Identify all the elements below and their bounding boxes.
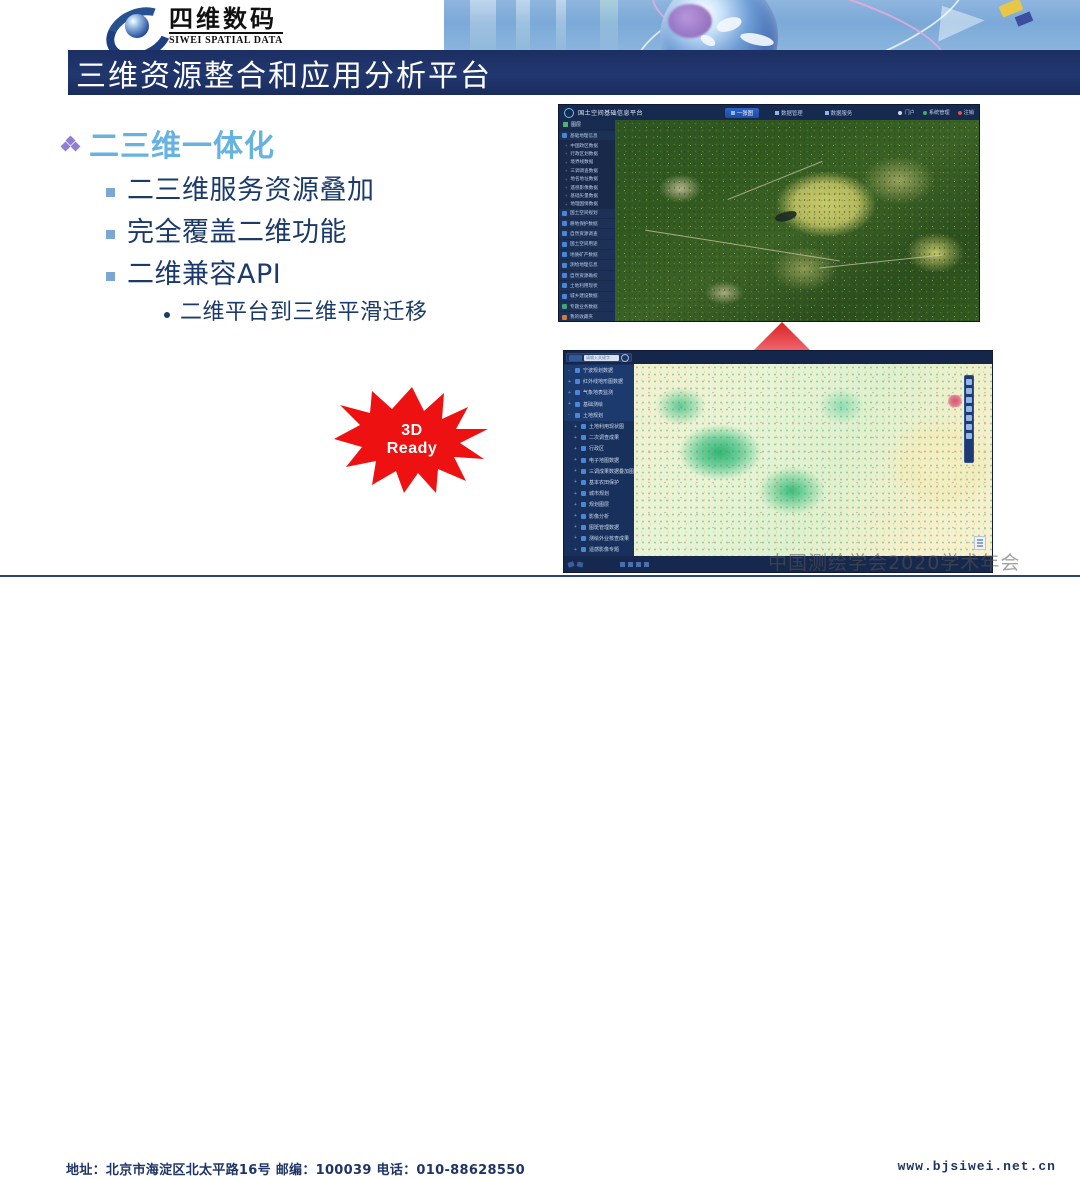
page-title: 三维资源整合和应用分析平台 (76, 52, 492, 94)
folder-icon (562, 242, 567, 247)
search-icon[interactable] (621, 354, 629, 362)
app-logo-icon (564, 108, 574, 118)
tree-item[interactable]: +城市规划 (564, 488, 634, 499)
tree-item-label: 三调成果数据叠加图 (589, 468, 634, 475)
tree-item-label: 电子地图数据 (589, 457, 619, 464)
tree-item-label: 基础矢量数据 (570, 193, 598, 199)
layers-icon (563, 122, 568, 127)
tree-group[interactable]: 自然资源调查 (559, 229, 615, 238)
print-icon[interactable] (966, 424, 972, 430)
diamond-bullet-icon (62, 137, 80, 155)
tree-group-label: 自然资源调查 (570, 231, 598, 237)
screenshot-3d-platform: 国土空间基础信息平台 一张图 数据管理 数据服务 门户 (558, 104, 980, 322)
bullet-level3-item: 二维平台到三维平滑迁移 (164, 298, 512, 329)
bullet-level2-item: 二维兼容API (106, 256, 512, 294)
folder-icon (562, 221, 567, 226)
footer-address: 地址：北京市海淀区北太平路16号 邮编：100039 电话：010-886285… (66, 1159, 525, 1178)
tree-group-label: 土地利用现状 (570, 283, 598, 289)
tree-item-label: 基础测绘 (583, 401, 603, 408)
tree-item[interactable]: +基础矢量数据 (559, 192, 615, 200)
tree-item-label: 行政区 (589, 445, 604, 452)
logout-label: 注销 (964, 109, 974, 116)
layer-icon (581, 536, 586, 541)
footer-url: www.bjsiwei.net.cn (898, 1159, 1056, 1174)
search-input[interactable]: 请输入关键字 (584, 355, 619, 361)
badge-3d-ready: 3D Ready (332, 385, 492, 495)
layer-tree-panel[interactable]: 基础地理信息 +中国政区数据 +行政区划数据 +境界线数据 +三调调查数据 +地… (559, 129, 615, 321)
bullet-level1-item: 二三维一体化 (62, 128, 512, 166)
identify-icon[interactable] (966, 433, 972, 439)
tree-item[interactable]: +中国政区数据 (559, 141, 615, 149)
tree-group-label: 地质矿产数据 (570, 252, 598, 258)
status-tool[interactable] (636, 562, 641, 567)
tree-group[interactable]: 国土空间规划 (559, 209, 615, 218)
pan-icon[interactable] (966, 379, 972, 385)
satellite-map-canvas[interactable] (615, 120, 979, 321)
tree-item-label: 城市规划 (589, 490, 609, 497)
tree-group[interactable]: 自然资源确权 (559, 271, 615, 280)
tree-group-label: 自然资源确权 (570, 273, 598, 279)
map-texture (615, 120, 979, 321)
folder-icon (562, 231, 567, 236)
folder-icon (562, 273, 567, 278)
tree-item-label: 行政区划数据 (570, 151, 598, 157)
app-titlebar: 国土空间基础信息平台 一张图 数据管理 数据服务 门户 (559, 105, 979, 120)
tree-group[interactable]: 专题业务数据 (559, 302, 615, 311)
layer-icon (581, 514, 586, 519)
tree-item[interactable]: +图斑管理数据 (564, 522, 634, 533)
tree-item-label: 地理国情数据 (570, 201, 598, 207)
folder-icon (575, 379, 580, 384)
layer-icon (581, 525, 586, 530)
portal-label: 门户 (904, 109, 914, 116)
app-title: 国土空间基础信息平台 (578, 108, 643, 117)
tree-item[interactable]: +气象地表监测 (564, 387, 634, 398)
tree-item[interactable]: +电子地图数据 (564, 455, 634, 466)
legend-row (977, 542, 983, 544)
tree-item[interactable]: +三调成果数据叠加图 (564, 466, 634, 477)
folder-icon (575, 413, 580, 418)
status-tool[interactable] (644, 562, 649, 567)
tree-item-label: 境界线数据 (570, 159, 593, 165)
legend-row (977, 539, 983, 541)
tree-item[interactable]: +遥感影像专题 (564, 544, 634, 555)
tree-item[interactable]: +红外线地形图数据 (564, 376, 634, 387)
tree-group-label: 专题业务数据 (570, 304, 598, 310)
tree-item-label: 测绘外业核查成果 (589, 535, 629, 542)
folder-icon (575, 368, 580, 373)
tree-group[interactable]: 土地利用现状 (559, 281, 615, 290)
portal-icon (898, 111, 902, 115)
logout-icon (958, 111, 962, 115)
zoom-in-icon[interactable] (966, 388, 972, 394)
tree-item[interactable]: +基本农田保护 (564, 477, 634, 488)
layers-icon[interactable] (966, 415, 972, 421)
light-streak (470, 0, 496, 50)
tree-item[interactable]: +三调调查数据 (559, 167, 615, 175)
layer-panel-title: 图层 (571, 121, 581, 128)
tree-item[interactable]: +行政区 (564, 443, 634, 454)
portal-link[interactable]: 门户 (898, 109, 914, 116)
status-tool[interactable] (628, 562, 633, 567)
star-icon (562, 315, 567, 320)
urban-cluster (947, 395, 963, 407)
bullet-level2-item: 二三维服务资源叠加 (106, 172, 512, 210)
layer-panel-header: 图层 (559, 120, 615, 129)
bullet-level3-label: 二维平台到三维平滑迁移 (180, 298, 428, 329)
tree-item-label: 红外线地形图数据 (583, 378, 623, 385)
layer-icon (581, 435, 586, 440)
square-bullet-icon (106, 272, 115, 281)
folder-icon (562, 263, 567, 268)
system-admin-link[interactable]: 系统管理 (923, 109, 950, 116)
status-tool-group[interactable] (620, 562, 649, 567)
bullet-level2-label: 二三维服务资源叠加 (127, 172, 375, 210)
tree-item-label: 基本农田保护 (589, 479, 619, 486)
light-streak (516, 0, 530, 50)
status-tool[interactable] (620, 562, 625, 567)
logout-link[interactable]: 注销 (958, 109, 974, 116)
tree-group-label: 耕地保护数据 (570, 221, 598, 227)
starburst-shape-icon (332, 385, 492, 495)
zoom-out-icon[interactable] (966, 397, 972, 403)
tree-item-label: 遥感影像专题 (589, 546, 619, 553)
layer-icon (581, 469, 586, 474)
header-banner: 四维数码 SIWEI SPATIAL DATA (0, 0, 1080, 50)
tree-group-label: 我的收藏夹 (570, 314, 593, 320)
tree-group-label: 国土空间规划 (570, 210, 598, 216)
layer-icon (581, 547, 586, 552)
tree-item-label: 三调调查数据 (570, 168, 598, 174)
tree-group[interactable]: 地质矿产数据 (559, 250, 615, 259)
tree-item[interactable]: +基础测绘 (564, 399, 634, 410)
app-account-area: 门户 系统管理 注销 (898, 109, 974, 116)
company-logo: 四维数码 SIWEI SPATIAL DATA (105, 6, 283, 46)
tree-item[interactable]: +遥感影像数据 (559, 183, 615, 191)
tree-item-label: 土地规划 (583, 412, 603, 419)
nav-tab-label: 一张图 (737, 109, 753, 117)
tree-item-label: 二次调查成果 (589, 434, 619, 441)
folder-icon (562, 133, 567, 138)
app-main-nav: 一张图 数据管理 数据服务 (725, 108, 858, 118)
square-bullet-icon (106, 230, 115, 239)
tree-item-label: 遥感影像数据 (570, 185, 598, 191)
layer-icon (581, 491, 586, 496)
tree-item-label: 中国政区数据 (570, 143, 598, 149)
tree-item[interactable]: +影像分析 (564, 510, 634, 521)
folder-icon (575, 402, 580, 407)
tree-group-label: 城乡建设数据 (570, 293, 598, 299)
tree-group[interactable]: 测绘地理信息 (559, 260, 615, 269)
tree-group[interactable]: 基础地理信息 (559, 131, 615, 140)
folder-icon (562, 252, 567, 257)
tree-item-label: 土地利用现状图 (589, 423, 624, 430)
tree-group-label: 基础地理信息 (570, 133, 598, 139)
search-bar[interactable]: 请输入关键字 (566, 353, 632, 362)
slide-footer: 地址：北京市海淀区北太平路16号 邮编：100039 电话：010-886285… (0, 577, 1080, 607)
layer-icon (581, 480, 586, 485)
tree-group[interactable]: 我的收藏夹 (559, 312, 615, 321)
light-streak (600, 0, 618, 50)
swoosh-globe-logo-icon (105, 7, 161, 45)
folder-icon (562, 294, 567, 299)
dot-bullet-icon (164, 312, 170, 318)
nav-tab-data-service[interactable]: 数据服务 (819, 108, 859, 118)
folder-icon (562, 211, 567, 216)
folder-icon (562, 283, 567, 288)
tree-item[interactable]: +地名地址数据 (559, 175, 615, 183)
legend-row (977, 545, 983, 547)
map-toolbar[interactable] (964, 375, 974, 463)
tree-item[interactable]: +规划图层 (564, 499, 634, 510)
system-admin-label: 系统管理 (929, 109, 950, 116)
slide-root: 四维数码 SIWEI SPATIAL DATA 三维资源整合和应用分析平台 二三… (0, 0, 1080, 607)
tree-group[interactable]: 国土空间用途 (559, 240, 615, 249)
layer-icon (581, 446, 586, 451)
layer-icon (581, 458, 586, 463)
square-bullet-icon (106, 188, 115, 197)
tree-group-label: 国土空间用途 (570, 241, 598, 247)
tree-item[interactable]: -宁波规划数据 (564, 365, 634, 376)
layer-tree-panel-2d[interactable]: -宁波规划数据 +红外线地形图数据 +气象地表监测 +基础测绘 -土地规划 +土… (564, 364, 634, 556)
measure-icon[interactable] (966, 406, 972, 412)
tree-item-label: 图斑管理数据 (589, 524, 619, 531)
folder-icon (575, 390, 580, 395)
service-icon (825, 111, 829, 115)
bullet-list: 二三维一体化 二三维服务资源叠加 完全覆盖二维功能 二维兼容API 二维平台到三… (62, 128, 512, 329)
folder-icon (562, 304, 567, 309)
light-streak (556, 0, 566, 50)
nav-tab-label: 数据服务 (831, 109, 853, 117)
tree-item-label: 规划图层 (589, 501, 609, 508)
tree-item[interactable]: +二次调查成果 (564, 432, 634, 443)
status-button[interactable] (577, 561, 584, 567)
nav-tab-data-management[interactable]: 数据管理 (769, 108, 809, 118)
nav-tab-one-map[interactable]: 一张图 (725, 108, 759, 118)
tree-item[interactable]: +地理国情数据 (559, 200, 615, 208)
tree-item-label: 影像分析 (589, 513, 609, 520)
map-texture (634, 364, 992, 556)
tree-group[interactable]: 耕地保护数据 (559, 219, 615, 228)
database-icon (775, 111, 779, 115)
tree-group[interactable]: 城乡建设数据 (559, 292, 615, 301)
conference-watermark: 中国测绘学会2020学术年会 (768, 548, 1020, 575)
gear-icon (923, 111, 927, 115)
layer-icon (581, 424, 586, 429)
bullet-level2-label: 完全覆盖二维功能 (127, 214, 347, 252)
tree-item[interactable]: +行政区划数据 (559, 150, 615, 158)
tree-item-label: 地名地址数据 (570, 176, 598, 182)
status-button[interactable] (567, 561, 574, 568)
screenshot-2d-platform: 请输入关键字 -宁波规划数据 +红外线地形图数据 +气象地表监测 +基础测绘 -… (563, 350, 993, 573)
thematic-map-canvas[interactable] (634, 364, 992, 556)
tree-item-label: 气象地表监测 (583, 389, 613, 396)
satellite-beam (938, 6, 986, 46)
tree-item[interactable]: +测绘外业核查成果 (564, 533, 634, 544)
title-bar-notch (0, 50, 68, 95)
bullet-level1-label: 二三维一体化 (89, 128, 275, 166)
tree-item[interactable]: +土地利用现状图 (564, 421, 634, 432)
logo-text-en: SIWEI SPATIAL DATA (169, 36, 283, 46)
map-icon (731, 111, 735, 115)
logo-text-cn: 四维数码 (169, 7, 283, 34)
bullet-level2-label: 二维兼容API (127, 256, 281, 294)
layer-icon (581, 502, 586, 507)
nav-tab-label: 数据管理 (781, 109, 803, 117)
tree-group-label: 测绘地理信息 (570, 262, 598, 268)
tree-item-label: 宁波规划数据 (583, 367, 613, 374)
bullet-level2-item: 完全覆盖二维功能 (106, 214, 512, 252)
tree-item[interactable]: -土地规划 (564, 410, 634, 421)
tree-item[interactable]: +境界线数据 (559, 158, 615, 166)
search-category-dropdown[interactable] (569, 355, 582, 361)
